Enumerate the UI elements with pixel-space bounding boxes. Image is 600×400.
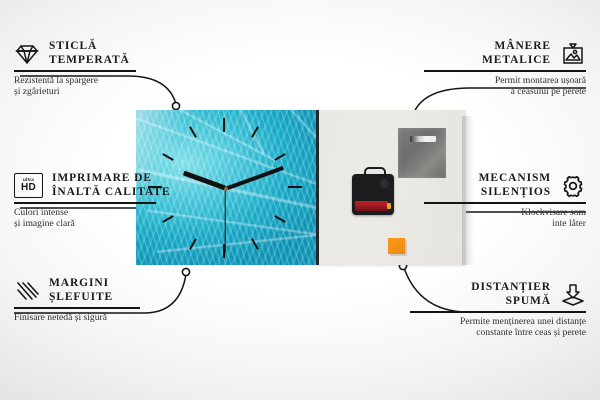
feature-distantier-spuma: DISTANȚIER SPUMĂ Permite menținerea unei… [410, 281, 586, 339]
feature-subtitle: Permite menținerea unei distanțe constan… [410, 316, 586, 339]
feature-subtitle: Finisare netedă și sigură [14, 312, 174, 324]
endpoint-dot-margini-slefuite [182, 268, 189, 275]
title-rule [424, 202, 586, 204]
second-hand [224, 188, 225, 252]
feature-title: MARGINI ȘLEFUITE [49, 277, 113, 304]
feature-title: MÂNERE METALICE [482, 40, 551, 67]
feature-imprimare-hd: ultraHD IMPRIMARE DE ÎNALTĂ CALITATE Cul… [14, 172, 190, 230]
tick-mark [223, 118, 225, 132]
feature-subtitle: Culori intense și imagine clară [14, 207, 190, 230]
feature-sticla-temperata: STICLĂ TEMPERATĂ Rezistentă la spargere … [14, 40, 176, 98]
hanger-slot [410, 136, 436, 142]
metal-hanger-plate [398, 128, 446, 178]
hand-center-pin [224, 187, 228, 191]
feature-manere-metalice: MÂNERE METALICE Permit montarea ușoară a… [424, 40, 586, 98]
feature-title: DISTANȚIER SPUMĂ [471, 281, 551, 308]
gear-icon [560, 174, 586, 198]
feature-subtitle: Permit montarea ușoară a ceasului pe per… [424, 75, 586, 98]
mechanism-hook [364, 167, 386, 178]
mechanism-dial [380, 179, 389, 188]
feature-margini-slefuite: MARGINI ȘLEFUITE Finisare netedă și sigu… [14, 277, 174, 323]
tick-mark [288, 186, 302, 188]
battery [355, 201, 388, 211]
wall-mount-frame-icon [560, 42, 586, 66]
clock-mechanism [352, 174, 394, 215]
feature-subtitle: Rezistentă la spargere și zgârieturi [14, 75, 176, 98]
feature-title: MECANISM SILENȚIOS [479, 172, 551, 199]
title-rule [14, 70, 136, 72]
foam-spacer-icon [560, 283, 586, 307]
title-rule [14, 307, 140, 309]
ultra-hd-icon: ultraHD [14, 173, 43, 198]
title-rule [14, 202, 156, 204]
diamond-icon [14, 42, 40, 66]
title-rule [424, 70, 586, 72]
feature-title: IMPRIMARE DE ÎNALTĂ CALITATE [52, 172, 170, 199]
feature-title: STICLĂ TEMPERATĂ [49, 40, 130, 67]
endpoint-dot-sticla-temperata [172, 102, 179, 109]
infographic-stage: STICLĂ TEMPERATĂ Rezistentă la spargere … [0, 0, 600, 400]
polished-edges-icon [14, 279, 40, 303]
feature-subtitle: Klockvisare som inte låter [424, 207, 586, 230]
feature-mecanism-silentios: MECANISM SILENȚIOS Klockvisare som inte … [424, 172, 586, 230]
title-rule [410, 311, 586, 313]
foam-spacer [388, 238, 405, 254]
